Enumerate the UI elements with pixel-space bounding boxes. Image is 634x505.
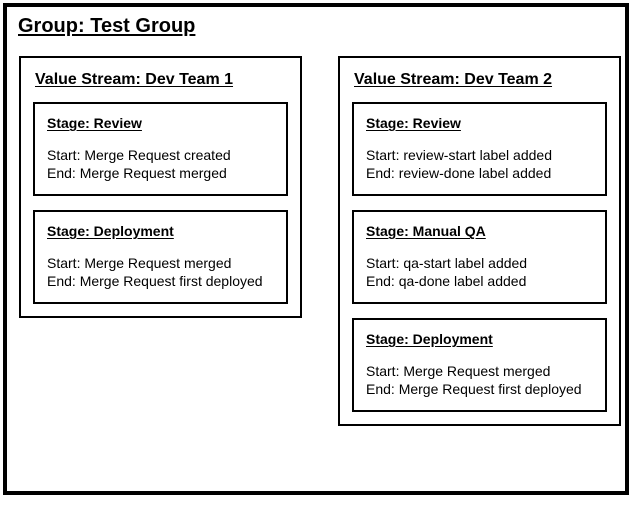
stage-start-event: Start: Merge Request merged: [366, 362, 593, 380]
stage-end-event: End: Merge Request first deployed: [366, 380, 593, 398]
stage-title: Stage: Manual QA: [366, 222, 593, 240]
value-stream-card: Value Stream: Dev Team 2 Stage: Review S…: [338, 56, 621, 426]
stage-start-event: Start: Merge Request merged: [47, 254, 274, 272]
value-stream-title: Value Stream: Dev Team 2: [354, 70, 619, 90]
stage-end-event: End: Merge Request first deployed: [47, 272, 274, 290]
stage-start-event: Start: review-start label added: [366, 146, 593, 164]
stage-start-event: Start: Merge Request created: [47, 146, 274, 164]
stage-card: Stage: Manual QA Start: qa-start label a…: [352, 210, 607, 304]
stage-title: Stage: Review: [366, 114, 593, 132]
stage-title: Stage: Deployment: [366, 330, 593, 348]
stage-card: Stage: Review Start: review-start label …: [352, 102, 607, 196]
stage-list: Stage: Review Start: review-start label …: [340, 90, 619, 424]
stage-list: Stage: Review Start: Merge Request creat…: [21, 90, 300, 316]
stage-end-event: End: review-done label added: [366, 164, 593, 182]
value-stream-columns: Value Stream: Dev Team 1 Stage: Review S…: [7, 7, 625, 491]
diagram-canvas: Group: Test Group Value Stream: Dev Team…: [0, 0, 634, 505]
group-frame: Group: Test Group Value Stream: Dev Team…: [3, 3, 629, 495]
stage-title: Stage: Review: [47, 114, 274, 132]
value-stream-card: Value Stream: Dev Team 1 Stage: Review S…: [19, 56, 302, 318]
value-stream-title: Value Stream: Dev Team 1: [35, 70, 300, 90]
stage-card: Stage: Deployment Start: Merge Request m…: [352, 318, 607, 412]
stage-card: Stage: Review Start: Merge Request creat…: [33, 102, 288, 196]
stage-title: Stage: Deployment: [47, 222, 274, 240]
stage-start-event: Start: qa-start label added: [366, 254, 593, 272]
stage-card: Stage: Deployment Start: Merge Request m…: [33, 210, 288, 304]
stage-end-event: End: Merge Request merged: [47, 164, 274, 182]
stage-end-event: End: qa-done label added: [366, 272, 593, 290]
